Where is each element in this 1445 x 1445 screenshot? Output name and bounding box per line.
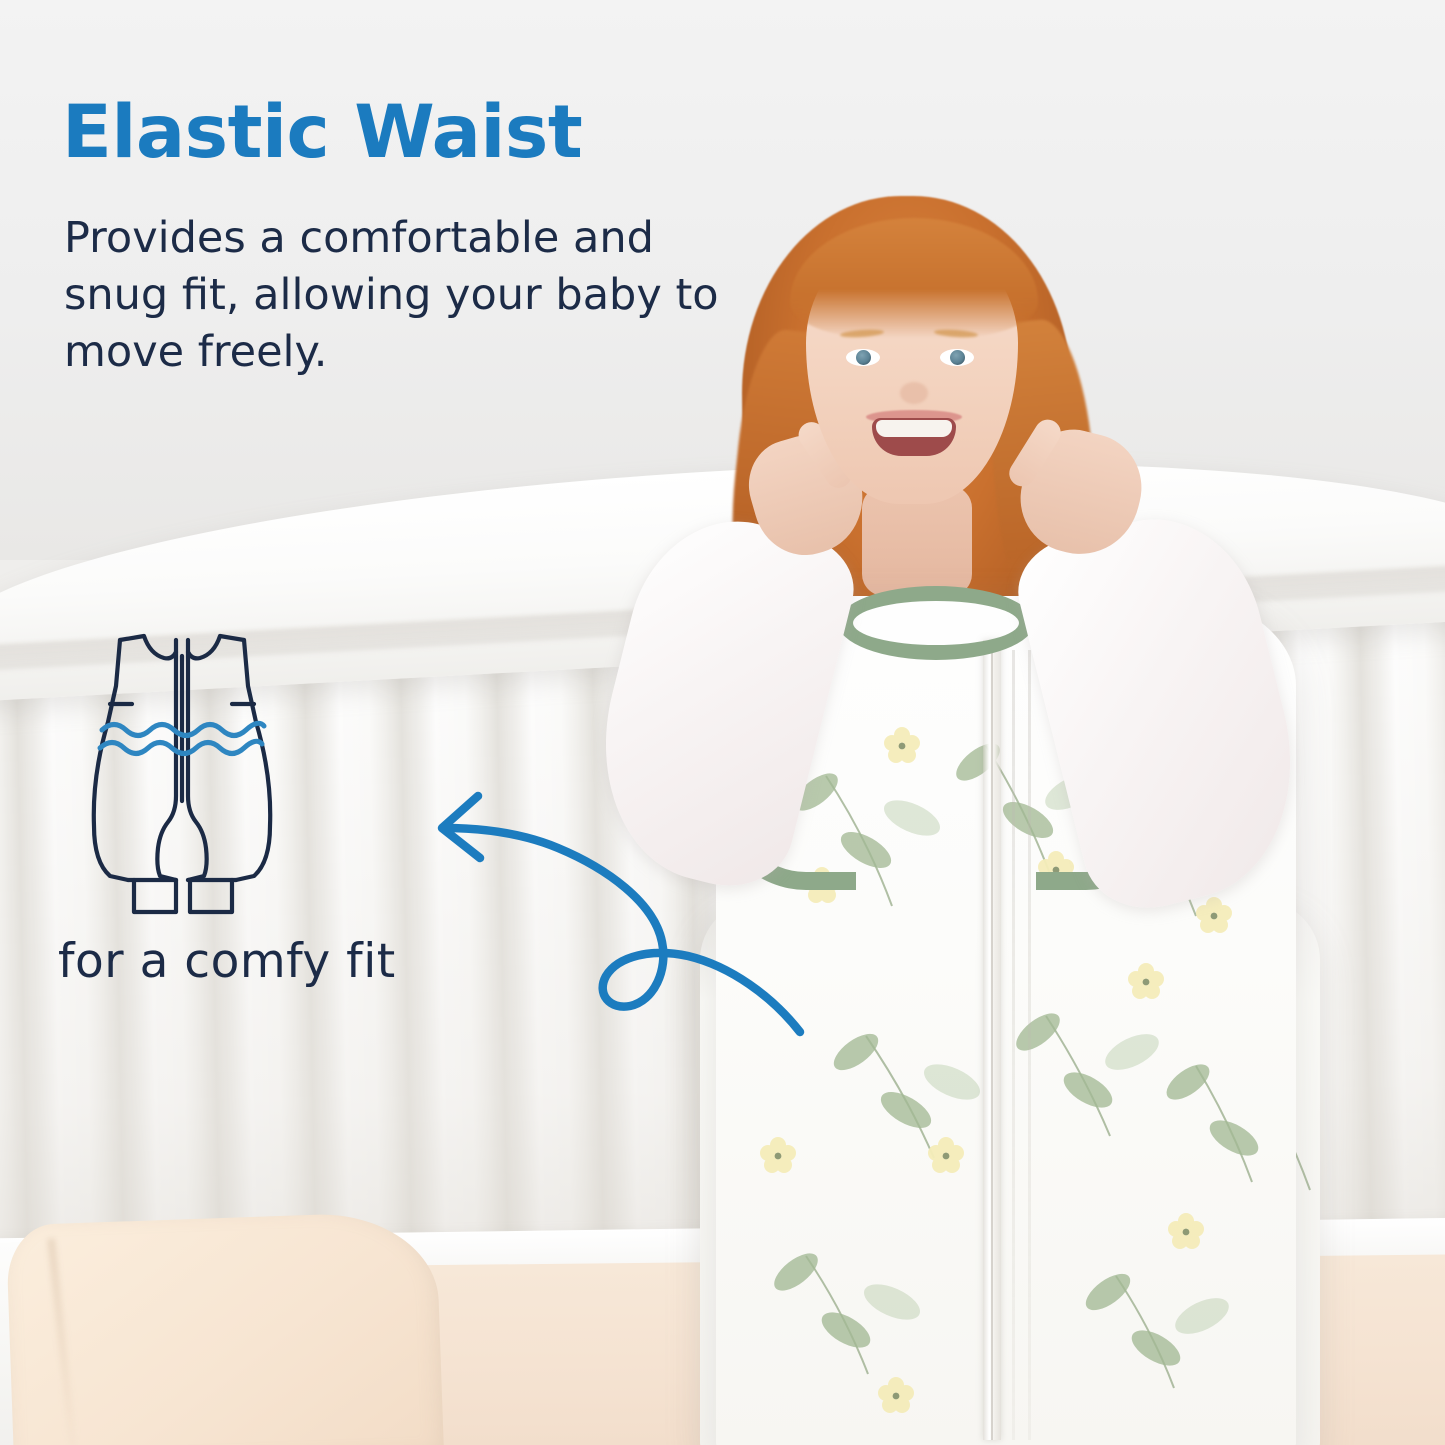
nose bbox=[900, 382, 928, 404]
iris-left bbox=[856, 350, 871, 365]
eye-left bbox=[846, 349, 880, 366]
mouth bbox=[872, 418, 956, 456]
fabric-pleat bbox=[1012, 650, 1015, 1440]
iris-right bbox=[950, 350, 965, 365]
neckline-trim bbox=[838, 586, 1034, 660]
eye-right bbox=[940, 349, 974, 366]
product-feature-image: Elastic Waist Provides a comfortable and… bbox=[0, 0, 1445, 1445]
page-title: Elastic Waist bbox=[62, 96, 582, 169]
icon-caption: for a comfy fit bbox=[58, 934, 396, 989]
zipper-teeth-line bbox=[991, 640, 993, 1440]
sleep-sack-icon bbox=[72, 626, 292, 916]
fabric-pleat bbox=[1028, 650, 1031, 1440]
teeth bbox=[876, 420, 952, 437]
feature-description: Provides a comfortable and snug fit, all… bbox=[64, 210, 754, 382]
